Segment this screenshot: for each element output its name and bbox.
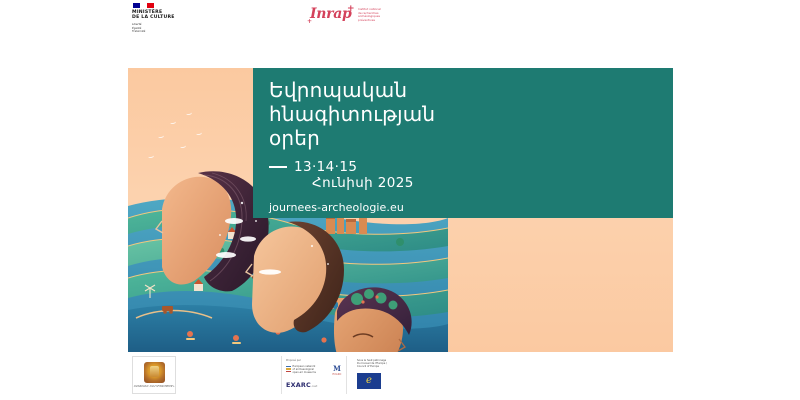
council-of-europe-logo: Sous le haut patronage Du Conseil de l'E… [353,356,429,394]
inrap-subtitle: Institut national de recherches archéolo… [358,8,414,23]
bird-icon [196,130,203,135]
coat-of-arms-icon [144,362,165,383]
month-year-value: Հունիսի 2025 [269,175,673,192]
poster-artwork: Եվրոպական հնագիտության օրեր 13·14·15 Հու… [128,68,673,352]
partner-logo-strip: ՀԱՅԱՍՏԱՆԻ ՀԱՆՐԱՊԵՏՈՒԹՅՈՒՆ Proposé par Eu… [128,352,673,400]
poster: Եվրոպական հնագիտության օրեր 13·14·15 Հու… [128,36,673,400]
headline-banner: Եվրոպական հնագիտության օրեր 13·14·15 Հու… [253,68,673,218]
inrap-cross-small-icon: + [307,19,312,25]
dates-row: 13·14·15 [269,159,673,175]
exarc-text: European network of archaeological open-… [293,365,331,375]
bird-icon [158,133,165,138]
inrap-logo: Inrap + + Institut national de recherche… [306,4,416,32]
poster-stage: MINISTÈRE DE LA CULTURE Liberté Égalité … [0,0,800,400]
profile-head-right-illustration [313,283,433,352]
exarc-wordmark-text: EXARC [286,381,311,389]
inrap-wordmark: Inrap [310,6,351,22]
bird-icon [148,153,155,158]
bird-icon [170,119,177,124]
coe-text: Sous le haut patronage Du Conseil de l'E… [357,359,425,369]
coe-flag-icon: e [357,373,381,389]
exarc-wordmark: EXARC.net [286,381,342,389]
bird-icon [180,143,187,148]
exarc-glyph-sub: EXARC [332,373,342,376]
event-url[interactable]: journees-archeologie.eu [269,201,673,214]
coe-e-glyph: e [366,376,372,386]
ministere-de-la-culture-logo: MINISTÈRE DE LA CULTURE Liberté Égalité … [132,3,202,35]
armenia-coat-of-arms-logo: ՀԱՅԱՍՏԱՆԻ ՀԱՆՐԱՊԵՏՈՒԹՅՈՒՆ [132,356,176,394]
ministere-motto: Liberté Égalité Fraternité [132,23,202,33]
exarc-row: European network of archaeological open-… [286,365,342,377]
bird-icon [186,110,193,115]
dash-rule-icon [269,166,287,168]
exarc-glyph-main: M [332,365,342,373]
dates-value: 13·14·15 [294,159,357,175]
french-flag-icon [133,3,154,8]
exarc-bars-icon [286,365,291,372]
armenia-caption: ՀԱՅԱՍՏԱՆԻ ՀԱՆՐԱՊԵՏՈՒԹՅՈՒՆ [134,385,175,388]
event-dates: 13·14·15 Հունիսի 2025 [269,159,673,192]
ministere-title: MINISTÈRE DE LA CULTURE [132,10,202,21]
exarc-wordmark-suffix: .net [311,384,318,388]
exarc-logo: Proposé par European network of archaeol… [281,356,347,394]
exarc-emblem-icon: M EXARC [332,365,342,377]
headline-title: Եվրոպական հնագիտության օրեր [269,78,673,150]
inrap-cross-icon: + [347,5,355,14]
logo-bar: MINISTÈRE DE LA CULTURE Liberté Égalité … [128,0,673,36]
exarc-heading: Proposé par [286,359,342,362]
